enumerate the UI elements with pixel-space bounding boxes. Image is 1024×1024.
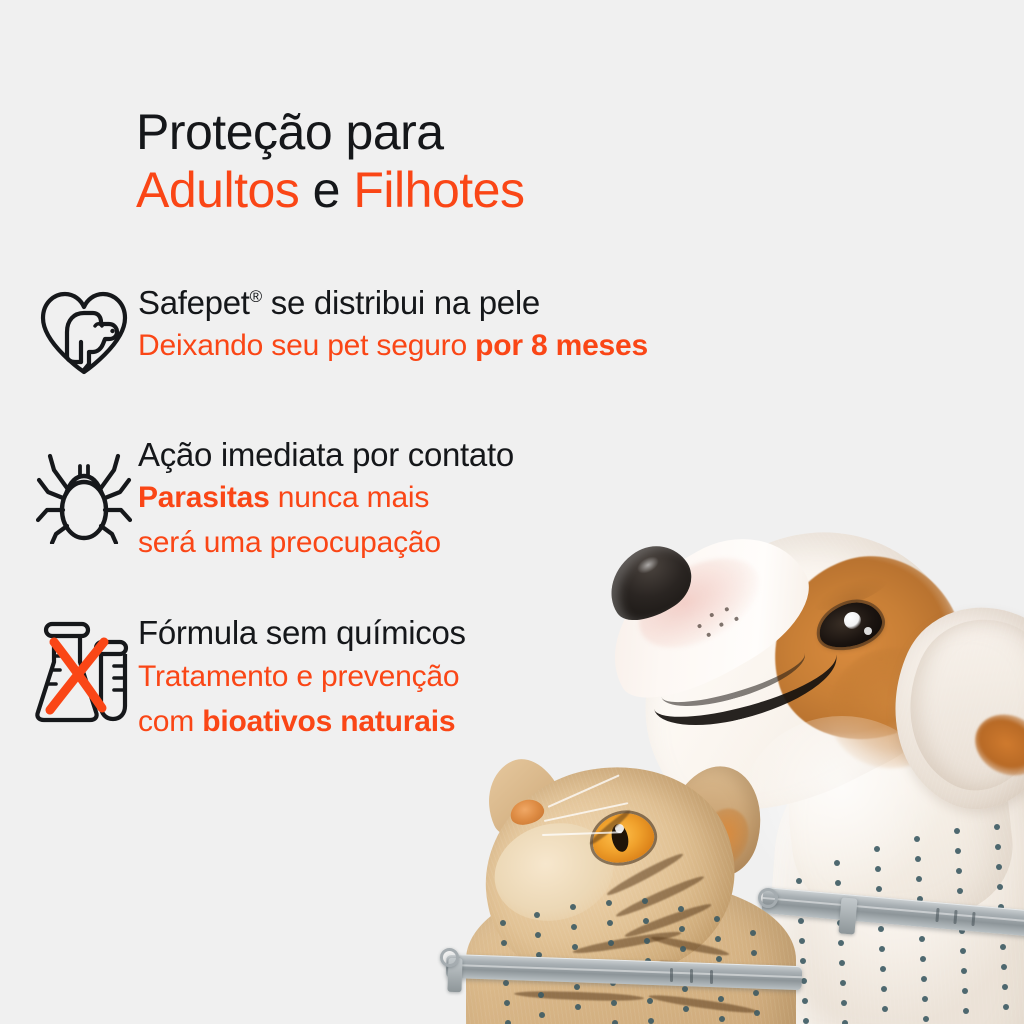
no-chemicals-flask-icon	[30, 612, 138, 724]
feature-subtitle-normal: nunca mais	[270, 481, 430, 514]
content-layer: Proteção para Adultos e Filhotes	[0, 0, 1024, 1024]
feature-item-no-chemicals: Fórmula sem químicos Tratamento e preven…	[30, 612, 850, 740]
headline-conjunction: e	[299, 162, 353, 218]
feature-title: Ação imediata por contato	[138, 436, 514, 474]
headline-adultos: Adultos	[136, 162, 299, 218]
feature-subtitle-bold: Parasitas	[138, 481, 270, 514]
tick-parasite-icon	[30, 434, 138, 544]
feature-subtitle-normal: Deixando seu pet seguro	[138, 329, 475, 362]
trademark-symbol: ®	[250, 287, 262, 306]
feature-title-brand: Safepet	[138, 284, 250, 321]
feature-title: Fórmula sem químicos	[138, 614, 466, 652]
feature-subtitle-line-2: com bioativos naturais	[138, 702, 466, 741]
page-title: Proteção para Adultos e Filhotes	[136, 104, 524, 221]
feature-item-skin-distribution: Safepet® se distribui na pele Deixando s…	[30, 282, 850, 378]
feature-subtitle-normal: Tratamento e prevenção	[138, 660, 459, 693]
feature-list: Safepet® se distribui na pele Deixando s…	[30, 282, 850, 741]
heart-dog-icon	[30, 282, 138, 378]
headline-filhotes: Filhotes	[353, 162, 524, 218]
feature-text: Safepet® se distribui na pele Deixando s…	[138, 282, 648, 365]
feature-title: Safepet® se distribui na pele	[138, 284, 648, 322]
feature-subtitle: Parasitas nunca maisserá uma preocupação	[138, 478, 514, 562]
feature-subtitle: Deixando seu pet seguro por 8 meses	[138, 326, 648, 365]
feature-text: Ação imediata por contato Parasitas nunc…	[138, 434, 514, 562]
infographic-canvas: Proteção para Adultos e Filhotes	[0, 0, 1024, 1024]
feature-subtitle-line-2-bold: bioativos naturais	[202, 705, 455, 738]
feature-subtitle-line-2-normal: com	[138, 705, 202, 738]
headline-line-2: Adultos e Filhotes	[136, 160, 524, 221]
feature-text: Fórmula sem químicos Tratamento e preven…	[138, 612, 466, 740]
feature-subtitle-bold: por 8 meses	[475, 329, 648, 362]
feature-subtitle-line-2: será uma preocupação	[138, 523, 514, 562]
feature-subtitle: Tratamento e prevençãocom bioativos natu…	[138, 657, 466, 741]
headline-line-1: Proteção para	[136, 104, 524, 160]
feature-title-rest: se distribui na pele	[262, 284, 540, 321]
feature-item-immediate-action: Ação imediata por contato Parasitas nunc…	[30, 434, 850, 562]
